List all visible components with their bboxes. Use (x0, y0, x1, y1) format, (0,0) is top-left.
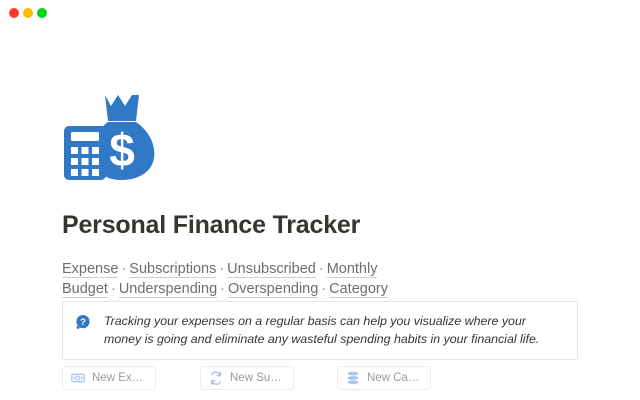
database-button-row: New Expe... New Subs... (62, 366, 562, 390)
banknote-icon (71, 371, 85, 385)
page-title: Personal Finance Tracker (62, 211, 360, 240)
new-expense-button-label: New Expe... (92, 372, 145, 384)
tag-separator: · (318, 281, 329, 297)
tag-category[interactable]: Category (329, 281, 388, 298)
page-content: $ Personal Finance Tracker Expense· (0, 26, 640, 400)
tag-unsubscribed[interactable]: Unsubscribed (227, 261, 316, 278)
window-close-button[interactable] (9, 8, 19, 18)
tag-overspending[interactable]: Overspending (228, 281, 318, 298)
question-circle-icon: ? (75, 314, 91, 330)
new-category-button[interactable]: New Categ... (337, 366, 431, 390)
sync-arrows-icon (209, 371, 223, 385)
tag-expense[interactable]: Expense (62, 261, 118, 278)
money-bag-calculator-icon: $ (62, 90, 162, 182)
new-category-button-label: New Categ... (367, 372, 420, 384)
tag-subscriptions[interactable]: Subscriptions (129, 261, 216, 278)
new-subscription-button[interactable]: New Subs... (200, 366, 294, 390)
layers-stack-icon (346, 371, 360, 385)
window-maximize-button[interactable] (37, 8, 47, 18)
new-expense-button[interactable]: New Expe... (62, 366, 156, 390)
svg-text:$: $ (109, 124, 135, 176)
svg-text:?: ? (80, 317, 86, 328)
callout-text: Tracking your expenses on a regular basi… (104, 312, 563, 348)
tag-list: Expense·Subscriptions·Unsubscribed·Month… (62, 259, 562, 299)
window-titlebar (0, 0, 640, 26)
new-subscription-button-label: New Subs... (230, 372, 283, 384)
app-window: $ Personal Finance Tracker Expense· (0, 0, 640, 400)
tag-separator: · (118, 261, 129, 277)
tag-separator: · (216, 261, 227, 277)
tag-separator: · (108, 281, 119, 297)
tag-underspending[interactable]: Underspending (119, 281, 217, 298)
tag-separator: · (316, 261, 327, 277)
tag-separator: · (217, 281, 228, 297)
info-callout: ? Tracking your expenses on a regular ba… (62, 301, 578, 360)
window-minimize-button[interactable] (23, 8, 33, 18)
